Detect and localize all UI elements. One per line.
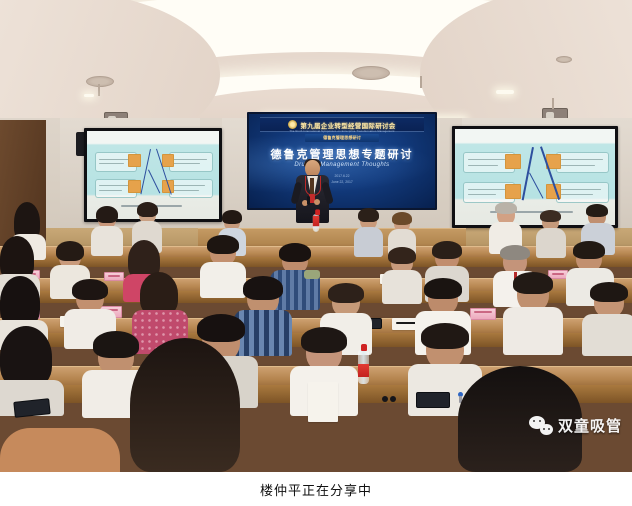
desk-row-1-front — [0, 257, 632, 267]
slide-figure-line-1 — [522, 147, 534, 200]
projector-rod-right — [552, 98, 554, 109]
watermark-text: 双童吸管 — [558, 415, 622, 436]
slide-box-2 — [505, 184, 521, 199]
slide-card-br — [169, 179, 213, 199]
slide-subbar: 德鲁克管理思想研讨 — [305, 134, 379, 142]
slide-card-tr — [556, 152, 609, 173]
photo-caption: 楼仲平正在分享中 — [260, 480, 372, 499]
conference-emblem-icon — [288, 120, 297, 129]
conference-photo: 第九届企业转型经营国际研讨会 The Ninth International S… — [0, 0, 632, 472]
bottle-label-near — [358, 364, 369, 377]
name-placard-6 — [470, 308, 496, 320]
slide-banner-title: 第九届企业转型经营国际研讨会 — [300, 120, 395, 130]
slide-figure-line-3 — [148, 169, 161, 193]
name-placard-2 — [104, 272, 124, 281]
slide-subbar-text: 德鲁克管理思想研讨 — [323, 135, 361, 141]
slide-date-cn: 2017.6.22 — [249, 174, 435, 179]
main-projection-screen: 第九届企业转型经营国际研讨会 The Ninth International S… — [247, 112, 437, 210]
smartphone-near — [416, 392, 450, 408]
caption-area: 楼仲平正在分享中 — [0, 472, 632, 506]
bottle-label — [313, 216, 319, 226]
watermark: 双童吸管 — [529, 415, 622, 436]
paper-sheet-near — [308, 382, 338, 422]
slide-date-en: June 22, 2017 — [249, 180, 435, 185]
sunglasses — [382, 396, 396, 403]
main-slide-content: 第九届企业转型经营国际研讨会 The Ninth International S… — [249, 114, 435, 208]
ceiling-rod-left — [98, 84, 100, 96]
water-bottle-near — [358, 350, 369, 384]
ceiling — [0, 0, 632, 128]
slide-figure-line-3 — [529, 173, 544, 199]
microphone-icon — [307, 196, 310, 205]
stage-water-bottle — [313, 214, 319, 232]
ceiling-vent-left — [86, 76, 114, 87]
slide-box-2 — [128, 180, 141, 193]
speaker-lanyard — [305, 176, 321, 196]
attendee-collar — [304, 270, 320, 279]
slide-box-1 — [128, 154, 141, 167]
slide-box-3 — [162, 154, 174, 167]
slide-banner-subtitle-en: The Ninth International Symposium on Ent… — [249, 130, 435, 133]
slide-box-1 — [505, 154, 521, 169]
screenshot-root: 第九届企业转型经营国际研讨会 The Ninth International S… — [0, 0, 632, 506]
slide-main-title-en: Drucker Management Thoughts — [249, 162, 435, 168]
slide-main-title: 德鲁克管理思想专题研讨 — [249, 146, 435, 162]
ceiling-spot-left — [84, 94, 94, 97]
ceiling-vent-right — [556, 56, 572, 63]
slide-card-tr — [169, 152, 213, 172]
ceiling-rod-center — [420, 76, 422, 88]
speaker-hand-right — [314, 199, 320, 205]
slide-card-br — [556, 182, 609, 203]
ceiling-vent-center — [352, 66, 390, 80]
ceiling-spot-right — [496, 90, 514, 94]
wechat-icon — [529, 416, 553, 435]
